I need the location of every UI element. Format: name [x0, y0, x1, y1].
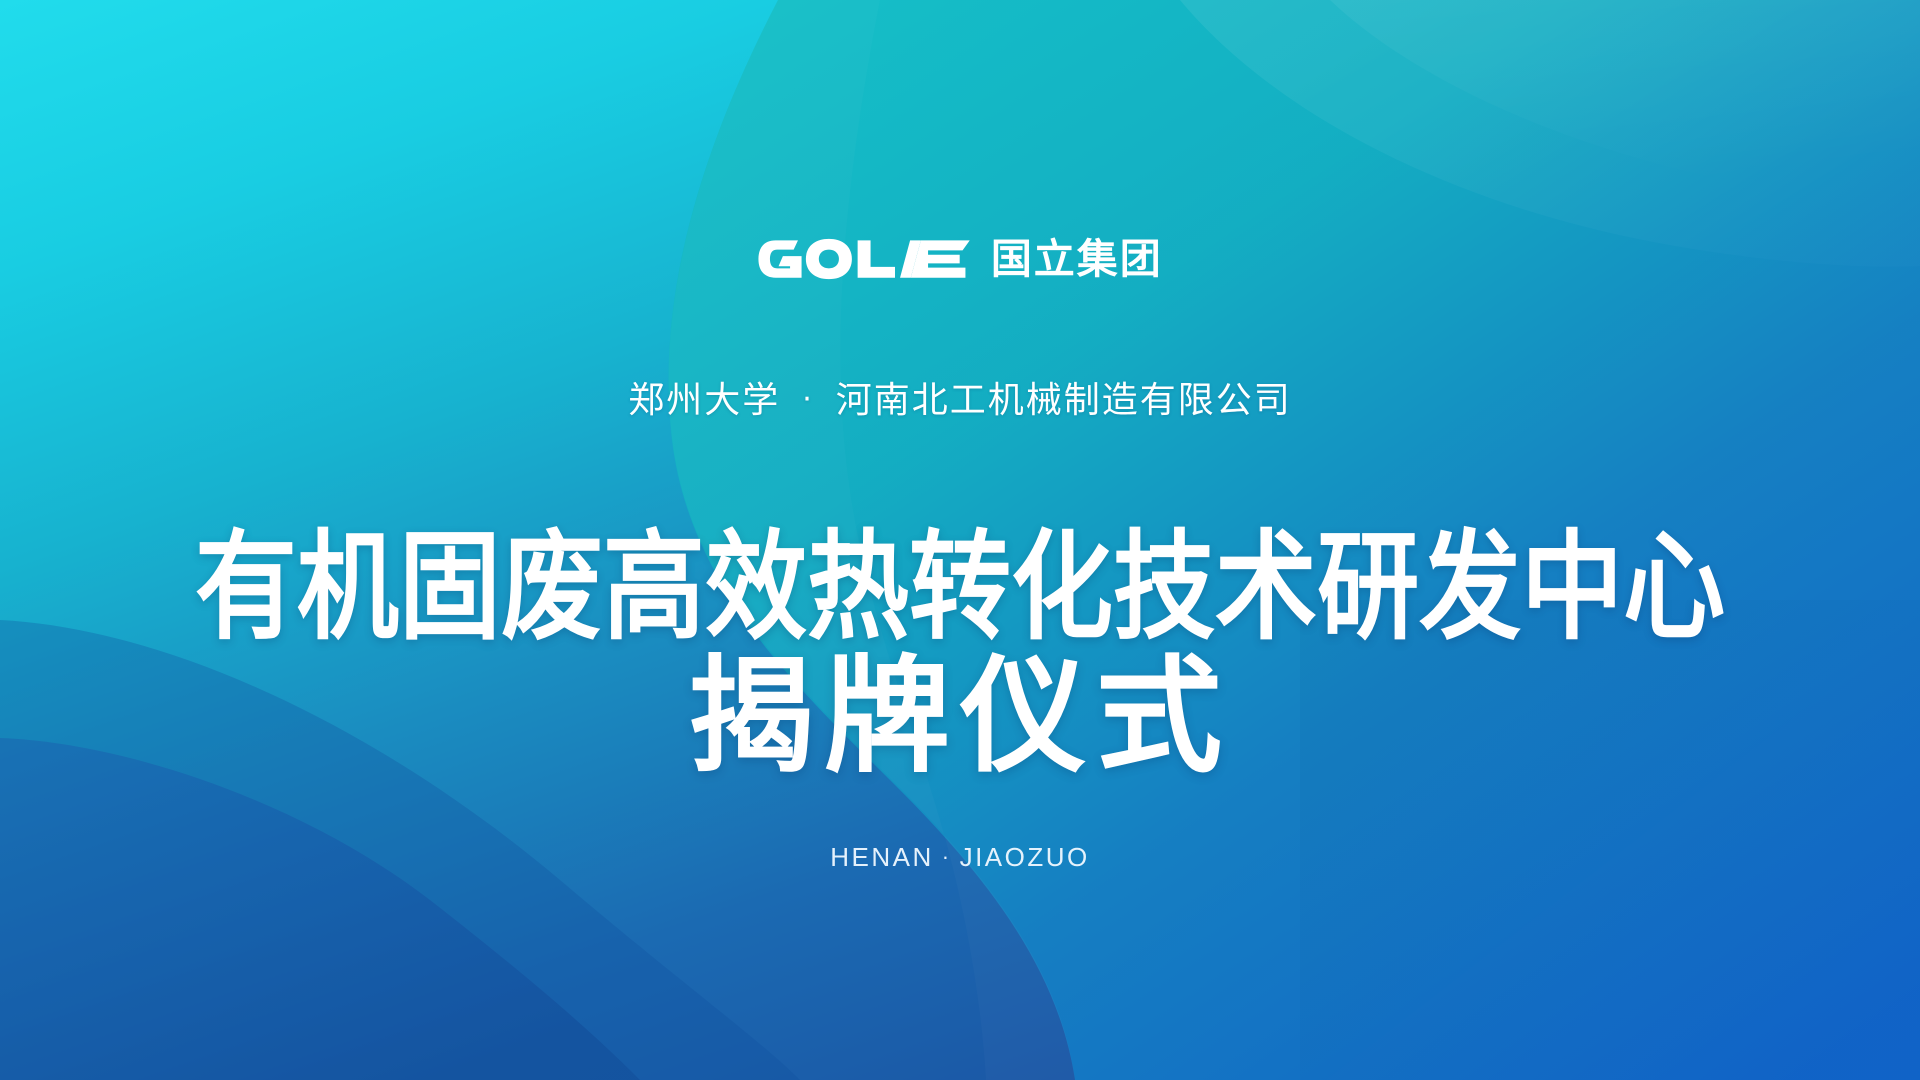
title-slide: 国立集团 郑州大学·河南北工机械制造有限公司 有机固废高效热转化技术研发中心 揭…: [0, 0, 1920, 1080]
location-province: HENAN: [830, 842, 934, 872]
location-city: JIAOZUO: [960, 842, 1090, 872]
gole-wordmark-icon: [757, 236, 973, 282]
location-line: HENAN·JIAOZUO: [0, 842, 1920, 873]
page-title-line-2: 揭牌仪式: [0, 647, 1920, 782]
page-title-line-1: 有机固废高效热转化技术研发中心: [195, 527, 1725, 647]
brand-logo-chinese: 国立集团: [991, 239, 1163, 280]
partner-left: 郑州大学: [628, 380, 780, 421]
partner-separator: ·: [780, 382, 836, 417]
page-title: 有机固废高效热转化技术研发中心 揭牌仪式: [0, 527, 1920, 782]
partner-right: 河南北工机械制造有限公司: [836, 380, 1292, 421]
partner-organizations-line: 郑州大学·河南北工机械制造有限公司: [0, 378, 1920, 423]
brand-logo-lockup: 国立集团: [0, 228, 1920, 290]
slide-content: 国立集团 郑州大学·河南北工机械制造有限公司 有机固废高效热转化技术研发中心 揭…: [0, 0, 1920, 1080]
location-separator: ·: [934, 844, 960, 869]
